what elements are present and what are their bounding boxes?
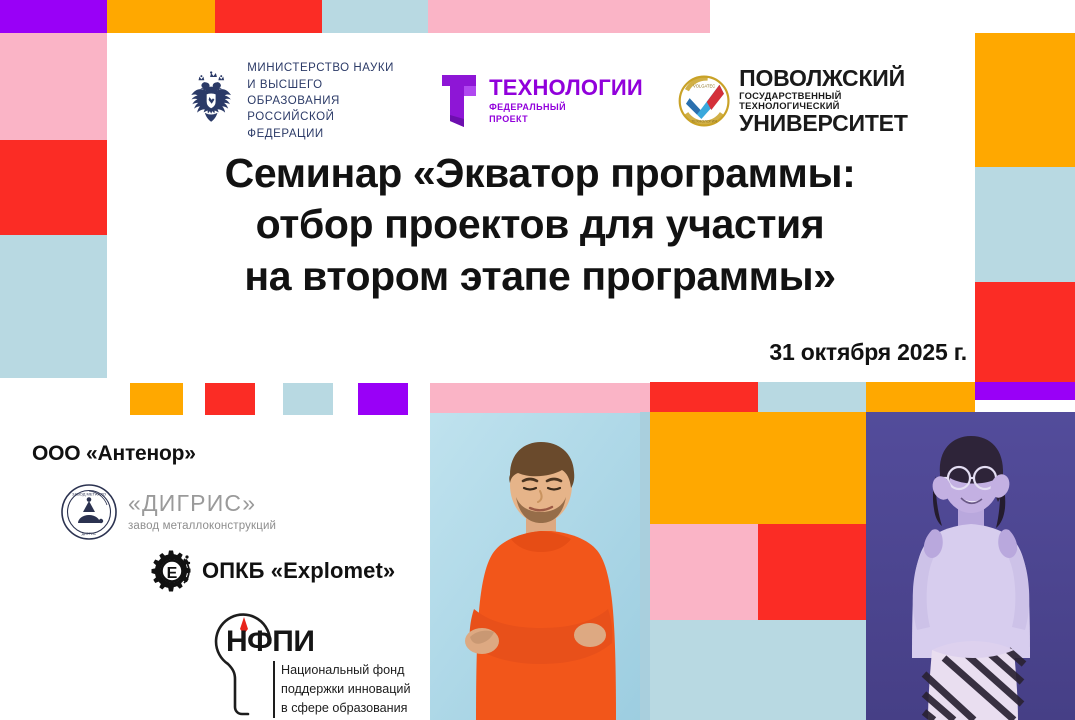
technologies-title: ТЕХНОЛОГИИ xyxy=(489,77,643,99)
decor-right-red xyxy=(975,282,1075,378)
decor-mid-blue-strip xyxy=(640,412,650,720)
decor-photo-pink-cap xyxy=(430,383,650,413)
photo-woman xyxy=(866,412,1075,720)
decor-mid-blue-top xyxy=(758,382,866,412)
title-line-2: отбор проектов для участия xyxy=(120,199,960,250)
decor-mid-blue-bottom xyxy=(650,620,866,720)
partner-digris-subtitle: завод металлоконструкций xyxy=(128,520,276,532)
decor-square-purple xyxy=(358,383,408,415)
title-line-1: Семинар «Экватор программы: xyxy=(120,148,960,199)
decor-mid-red xyxy=(758,524,866,620)
svg-text:ЗАВОД МЕТАЛЛО: ЗАВОД МЕТАЛЛО xyxy=(72,491,106,496)
explomet-gear-e-icon: E xyxy=(150,549,194,593)
partner-nfpi-description: Национальный фонд поддержки инноваций в … xyxy=(273,661,411,718)
decor-top-bar-light-blue xyxy=(322,0,428,33)
university-line-2: ГОСУДАРСТВЕННЫЙ ТЕХНОЛОГИЧЕСКИЙ xyxy=(739,91,925,112)
university-logo: VOLGATEC ТЕХНОЛОГИЯ ПОВОЛЖСКИЙ ГОСУДАРСТ… xyxy=(677,67,925,136)
decor-top-bar-red xyxy=(215,0,322,33)
svg-text:ДИГРИС: ДИГРИС xyxy=(82,532,97,536)
double-headed-eagle-icon xyxy=(185,68,237,134)
ministry-name-text: МИНИСТЕРСТВО НАУКИ И ВЫСШЕГО ОБРАЗОВАНИЯ… xyxy=(247,60,402,142)
photo-man-figure xyxy=(430,413,650,720)
partner-antenor-name: ООО «Антенор» xyxy=(32,442,196,466)
decor-top-bar-orange xyxy=(107,0,215,33)
decor-left-light-blue xyxy=(0,235,107,378)
decor-top-bar-purple xyxy=(0,0,107,33)
photo-woman-figure xyxy=(866,412,1075,720)
svg-text:ТЕХНОЛОГИЯ: ТЕХНОЛОГИЯ xyxy=(691,120,717,124)
university-line-3: УНИВЕРСИТЕТ xyxy=(739,112,925,135)
partner-digris-name: «ДИГРИС» xyxy=(128,492,276,515)
poster-title: Семинар «Экватор программы: отбор проект… xyxy=(120,148,960,302)
lightbulb-outline-icon xyxy=(210,599,280,717)
photo-man xyxy=(430,413,650,720)
decor-mid-red-top xyxy=(650,382,758,412)
decor-left-red xyxy=(0,140,107,235)
technologies-subtitle: ФЕДЕРАЛЬНЫЙ ПРОЕКТ xyxy=(489,102,643,125)
decor-mid-orange xyxy=(650,412,866,524)
university-line-1: ПОВОЛЖСКИЙ xyxy=(739,67,925,90)
decor-mid-pink xyxy=(650,524,758,620)
digris-metalworks-seal-icon: ЗАВОД МЕТАЛЛО ДИГРИС xyxy=(60,483,118,541)
decor-right-orange xyxy=(975,33,1075,167)
ministry-logo: МИНИСТЕРСТВО НАУКИ И ВЫСШЕГО ОБРАЗОВАНИЯ… xyxy=(185,60,402,142)
decor-square-orange xyxy=(130,383,183,415)
decor-right-orange-cap xyxy=(866,382,975,412)
volgatech-checkmark-seal-icon: VOLGATEC ТЕХНОЛОГИЯ xyxy=(677,71,731,131)
technologies-t-mark-icon xyxy=(436,75,482,127)
seminar-poster: МИНИСТЕРСТВО НАУКИ И ВЫСШЕГО ОБРАЗОВАНИЯ… xyxy=(0,0,1075,720)
partner-opkb-name: ОПКБ «Explomet» xyxy=(202,558,395,584)
decor-top-bar-pink xyxy=(428,0,710,33)
decor-left-pink xyxy=(0,33,107,140)
svg-text:E: E xyxy=(167,565,178,582)
decor-square-red xyxy=(205,383,255,415)
partner-digris: ЗАВОД МЕТАЛЛО ДИГРИС «ДИГРИС» завод мета… xyxy=(60,483,276,541)
technologies-logo: ТЕХНОЛОГИИ ФЕДЕРАЛЬНЫЙ ПРОЕКТ xyxy=(436,75,643,127)
header-logo-row: МИНИСТЕРСТВО НАУКИ И ВЫСШЕГО ОБРАЗОВАНИЯ… xyxy=(185,62,925,140)
partner-opkb: E ОПКБ «Explomet» xyxy=(150,549,395,593)
svg-text:VOLGATEC: VOLGATEC xyxy=(693,83,715,88)
event-date: 31 октября 2025 г. xyxy=(769,339,967,366)
partner-nfpi-abbr: НФПИ xyxy=(226,627,314,657)
title-line-3: на втором этапе программы» xyxy=(120,251,960,302)
decor-right-light-blue xyxy=(975,167,1075,282)
decor-square-light-blue xyxy=(283,383,333,415)
partners-block: ООО «Антенор» ЗАВОД МЕТАЛЛО ДИГРИС «ДИГР… xyxy=(20,437,430,720)
decor-right-red-sliver xyxy=(975,375,1075,382)
partner-nfpi: НФПИ Национальный фонд поддержки инновац… xyxy=(210,599,425,719)
